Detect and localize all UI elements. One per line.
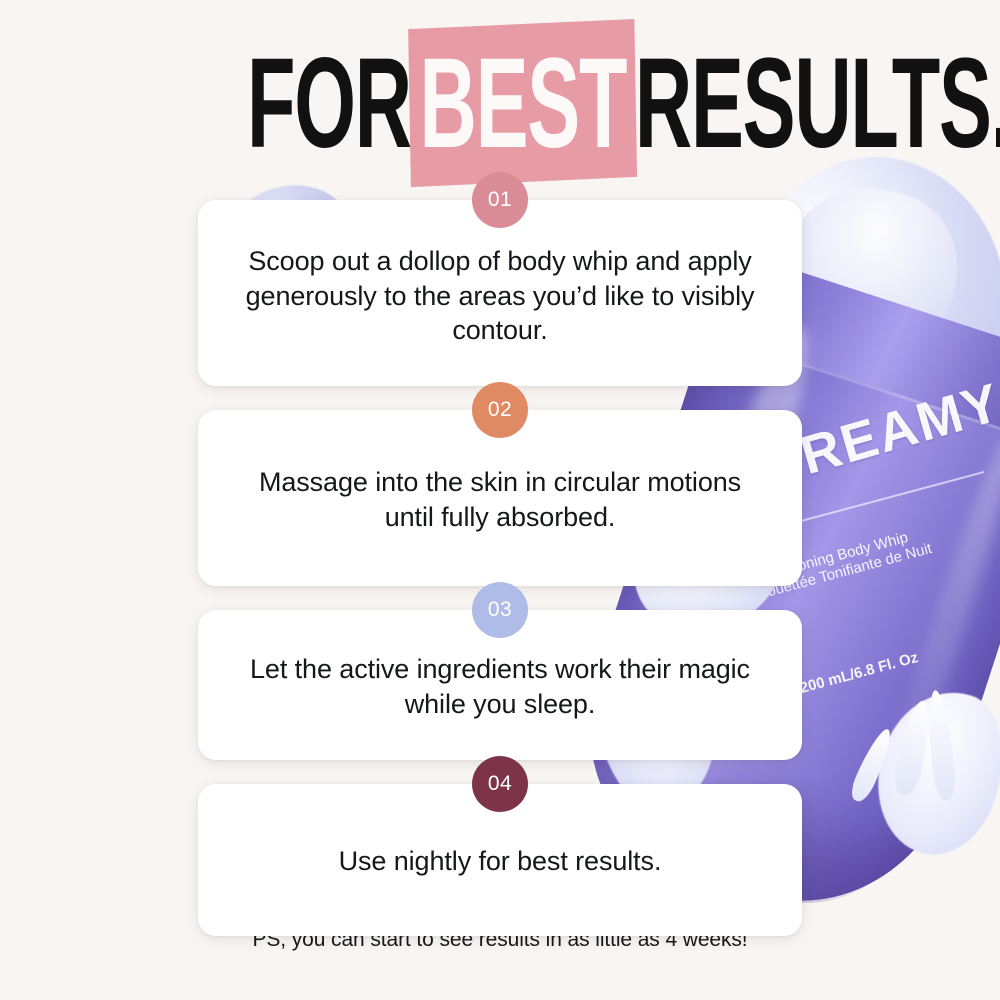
headline-highlight-word: BEST — [413, 40, 632, 168]
step-number-badge: 02 — [472, 382, 528, 438]
list-item: 01 Scoop out a dollop of body whip and a… — [198, 200, 802, 386]
headline-part-1: FOR — [247, 40, 411, 168]
steps-list: 01 Scoop out a dollop of body whip and a… — [198, 200, 802, 960]
step-text: Let the active ingredients work their ma… — [244, 652, 756, 721]
list-item: 04 Use nightly for best results. — [198, 784, 802, 936]
list-item: 03 Let the active ingredients work their… — [198, 610, 802, 760]
promo-graphic: ET-DREAMY Overnight Toning Body Whip Crè… — [0, 0, 1000, 1000]
step-text: Massage into the skin in circular motion… — [244, 465, 756, 534]
step-number-badge: 04 — [472, 756, 528, 812]
page-title: FORBESTRESULTS... — [0, 40, 1000, 168]
step-text: Scoop out a dollop of body whip and appl… — [244, 244, 756, 348]
content-layer: FORBESTRESULTS... 01 Scoop out a dollop … — [0, 0, 1000, 1000]
step-text: Use nightly for best results. — [339, 844, 662, 879]
step-number-badge: 03 — [472, 582, 528, 638]
headline-part-2: RESULTS... — [635, 40, 1000, 168]
list-item: 02 Massage into the skin in circular mot… — [198, 410, 802, 586]
step-number-badge: 01 — [472, 172, 528, 228]
